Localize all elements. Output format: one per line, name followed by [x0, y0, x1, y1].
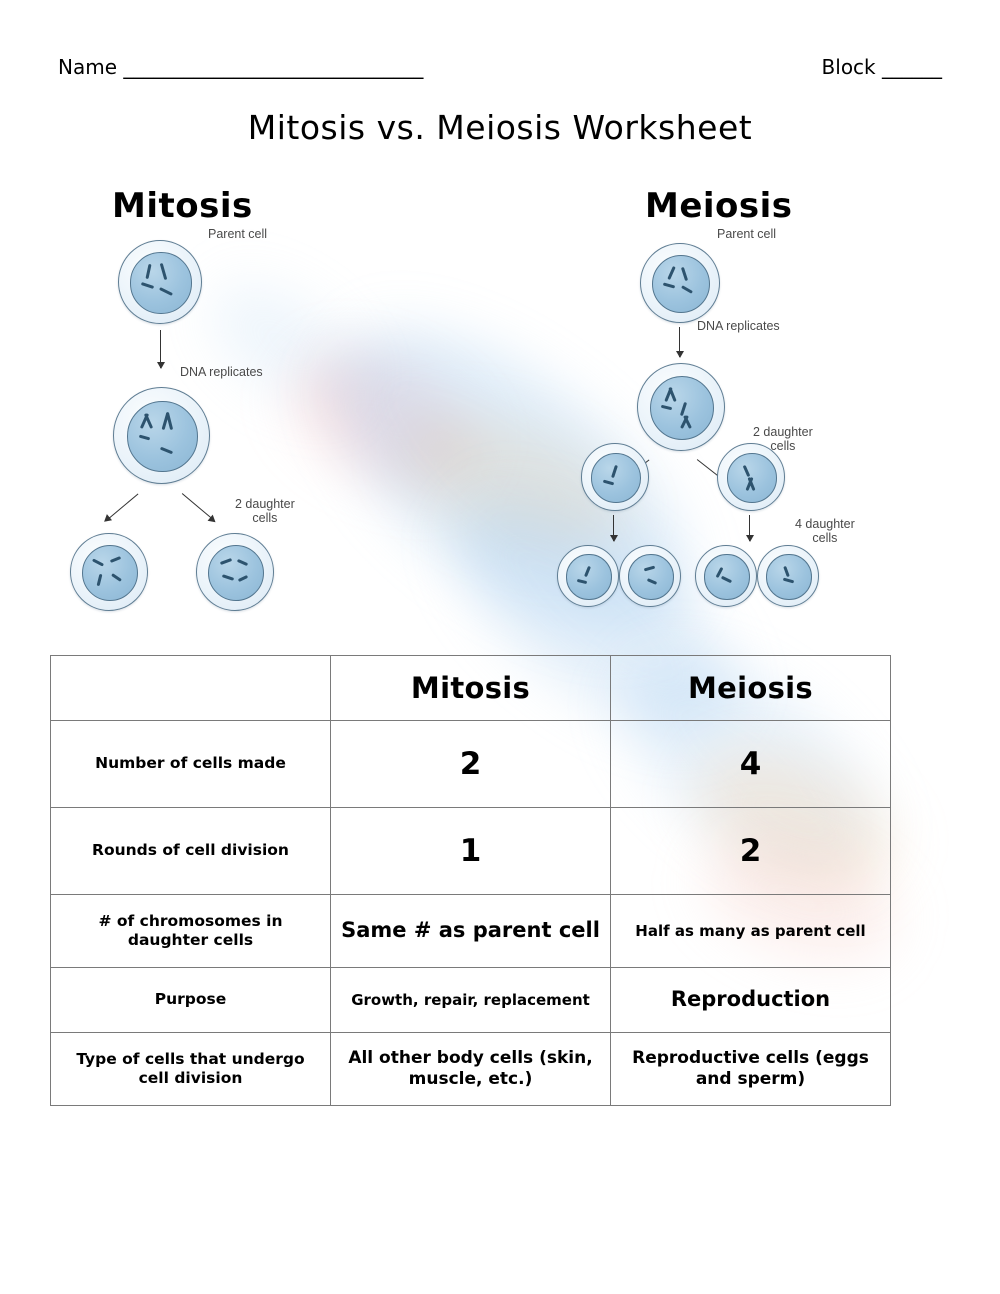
table-row: Purpose Growth, repair, replacement Repr… — [51, 968, 891, 1033]
meiosis-parent-cell — [640, 243, 720, 323]
arrow-down-replication — [160, 330, 161, 368]
meiosis-replicated-cell — [637, 363, 725, 451]
mitosis-daughter-cell-1 — [70, 533, 148, 611]
cell-meiosis-number-of-cells[interactable]: 4 — [611, 721, 891, 808]
arrow-down-replication — [679, 327, 680, 357]
mitosis-two-daughter-cells-label: 2 daughter cells — [235, 497, 295, 526]
table-header-row: Mitosis Meiosis — [51, 656, 891, 721]
nucleus — [727, 453, 777, 503]
table-header-mitosis: Mitosis — [331, 656, 611, 721]
nucleus — [766, 554, 811, 599]
cell-mitosis-cell-type[interactable]: All other body cells (skin, muscle, etc.… — [331, 1033, 611, 1106]
arrow-split-left — [105, 493, 138, 521]
meiosis-daughter-cell-4 — [757, 545, 819, 607]
meiosis-four-daughter-cells-label: 4 daughter cells — [795, 517, 855, 546]
mitosis-diagram: Parent cell DNA replicates — [60, 215, 480, 625]
table-row: Rounds of cell division 1 2 — [51, 808, 891, 895]
nucleus — [704, 554, 749, 599]
name-field-label[interactable]: Name ______________________________ — [58, 55, 423, 79]
page-title: Mitosis vs. Meiosis Worksheet — [0, 108, 1000, 147]
row-label-purpose: Purpose — [51, 968, 331, 1033]
meiosis-diagram: Parent cell DNA replicates — [545, 215, 975, 625]
meiosis-daughter-cell-3 — [695, 545, 757, 607]
row-label-rounds-of-division: Rounds of cell division — [51, 808, 331, 895]
nucleus — [127, 401, 197, 471]
worksheet-page: Name ______________________________ Bloc… — [0, 0, 1000, 1294]
meiosis-daughter-cell-2 — [619, 545, 681, 607]
cell-mitosis-purpose[interactable]: Growth, repair, replacement — [331, 968, 611, 1033]
mitosis-replicated-cell — [113, 387, 210, 484]
meiosis-daughter-cell-1 — [557, 545, 619, 607]
nucleus — [208, 545, 265, 602]
nucleus — [650, 376, 714, 440]
cell-meiosis-purpose[interactable]: Reproduction — [611, 968, 891, 1033]
nucleus — [130, 252, 191, 313]
meiosis-intermediate-cell-1 — [581, 443, 649, 511]
table-row: Type of cells that undergo cell division… — [51, 1033, 891, 1106]
table-row: # of chromosomes in daughter cells Same … — [51, 895, 891, 968]
header-row: Name ______________________________ Bloc… — [0, 55, 1000, 85]
row-label-cell-type: Type of cells that undergo cell division — [51, 1033, 331, 1106]
row-label-number-of-cells: Number of cells made — [51, 721, 331, 808]
table-header-meiosis: Meiosis — [611, 656, 891, 721]
nucleus — [566, 554, 611, 599]
nucleus — [82, 545, 139, 602]
nucleus — [591, 453, 641, 503]
meiosis-dna-replicates-label: DNA replicates — [697, 319, 780, 333]
mitosis-parent-cell-label: Parent cell — [208, 227, 267, 241]
row-label-chromosome-count: # of chromosomes in daughter cells — [51, 895, 331, 968]
cell-meiosis-cell-type[interactable]: Reproductive cells (eggs and sperm) — [611, 1033, 891, 1106]
mitosis-meiosis-comparison-table: Mitosis Meiosis Number of cells made 2 4… — [50, 655, 891, 1106]
table-header-blank — [51, 656, 331, 721]
arrow-down-second-division-right — [749, 515, 750, 541]
cell-meiosis-rounds-of-division[interactable]: 2 — [611, 808, 891, 895]
nucleus — [652, 255, 710, 313]
arrow-split-right — [182, 493, 215, 521]
mitosis-dna-replicates-label: DNA replicates — [180, 365, 263, 379]
mitosis-daughter-cell-2 — [196, 533, 274, 611]
meiosis-parent-cell-label: Parent cell — [717, 227, 776, 241]
cell-mitosis-number-of-cells[interactable]: 2 — [331, 721, 611, 808]
arrow-down-second-division-left — [613, 515, 614, 541]
mitosis-parent-cell — [118, 240, 202, 324]
cell-meiosis-chromosome-count[interactable]: Half as many as parent cell — [611, 895, 891, 968]
nucleus — [628, 554, 673, 599]
cell-mitosis-rounds-of-division[interactable]: 1 — [331, 808, 611, 895]
cell-mitosis-chromosome-count[interactable]: Same # as parent cell — [331, 895, 611, 968]
meiosis-intermediate-cell-2 — [717, 443, 785, 511]
table-row: Number of cells made 2 4 — [51, 721, 891, 808]
block-field-label[interactable]: Block ______ — [822, 55, 942, 79]
